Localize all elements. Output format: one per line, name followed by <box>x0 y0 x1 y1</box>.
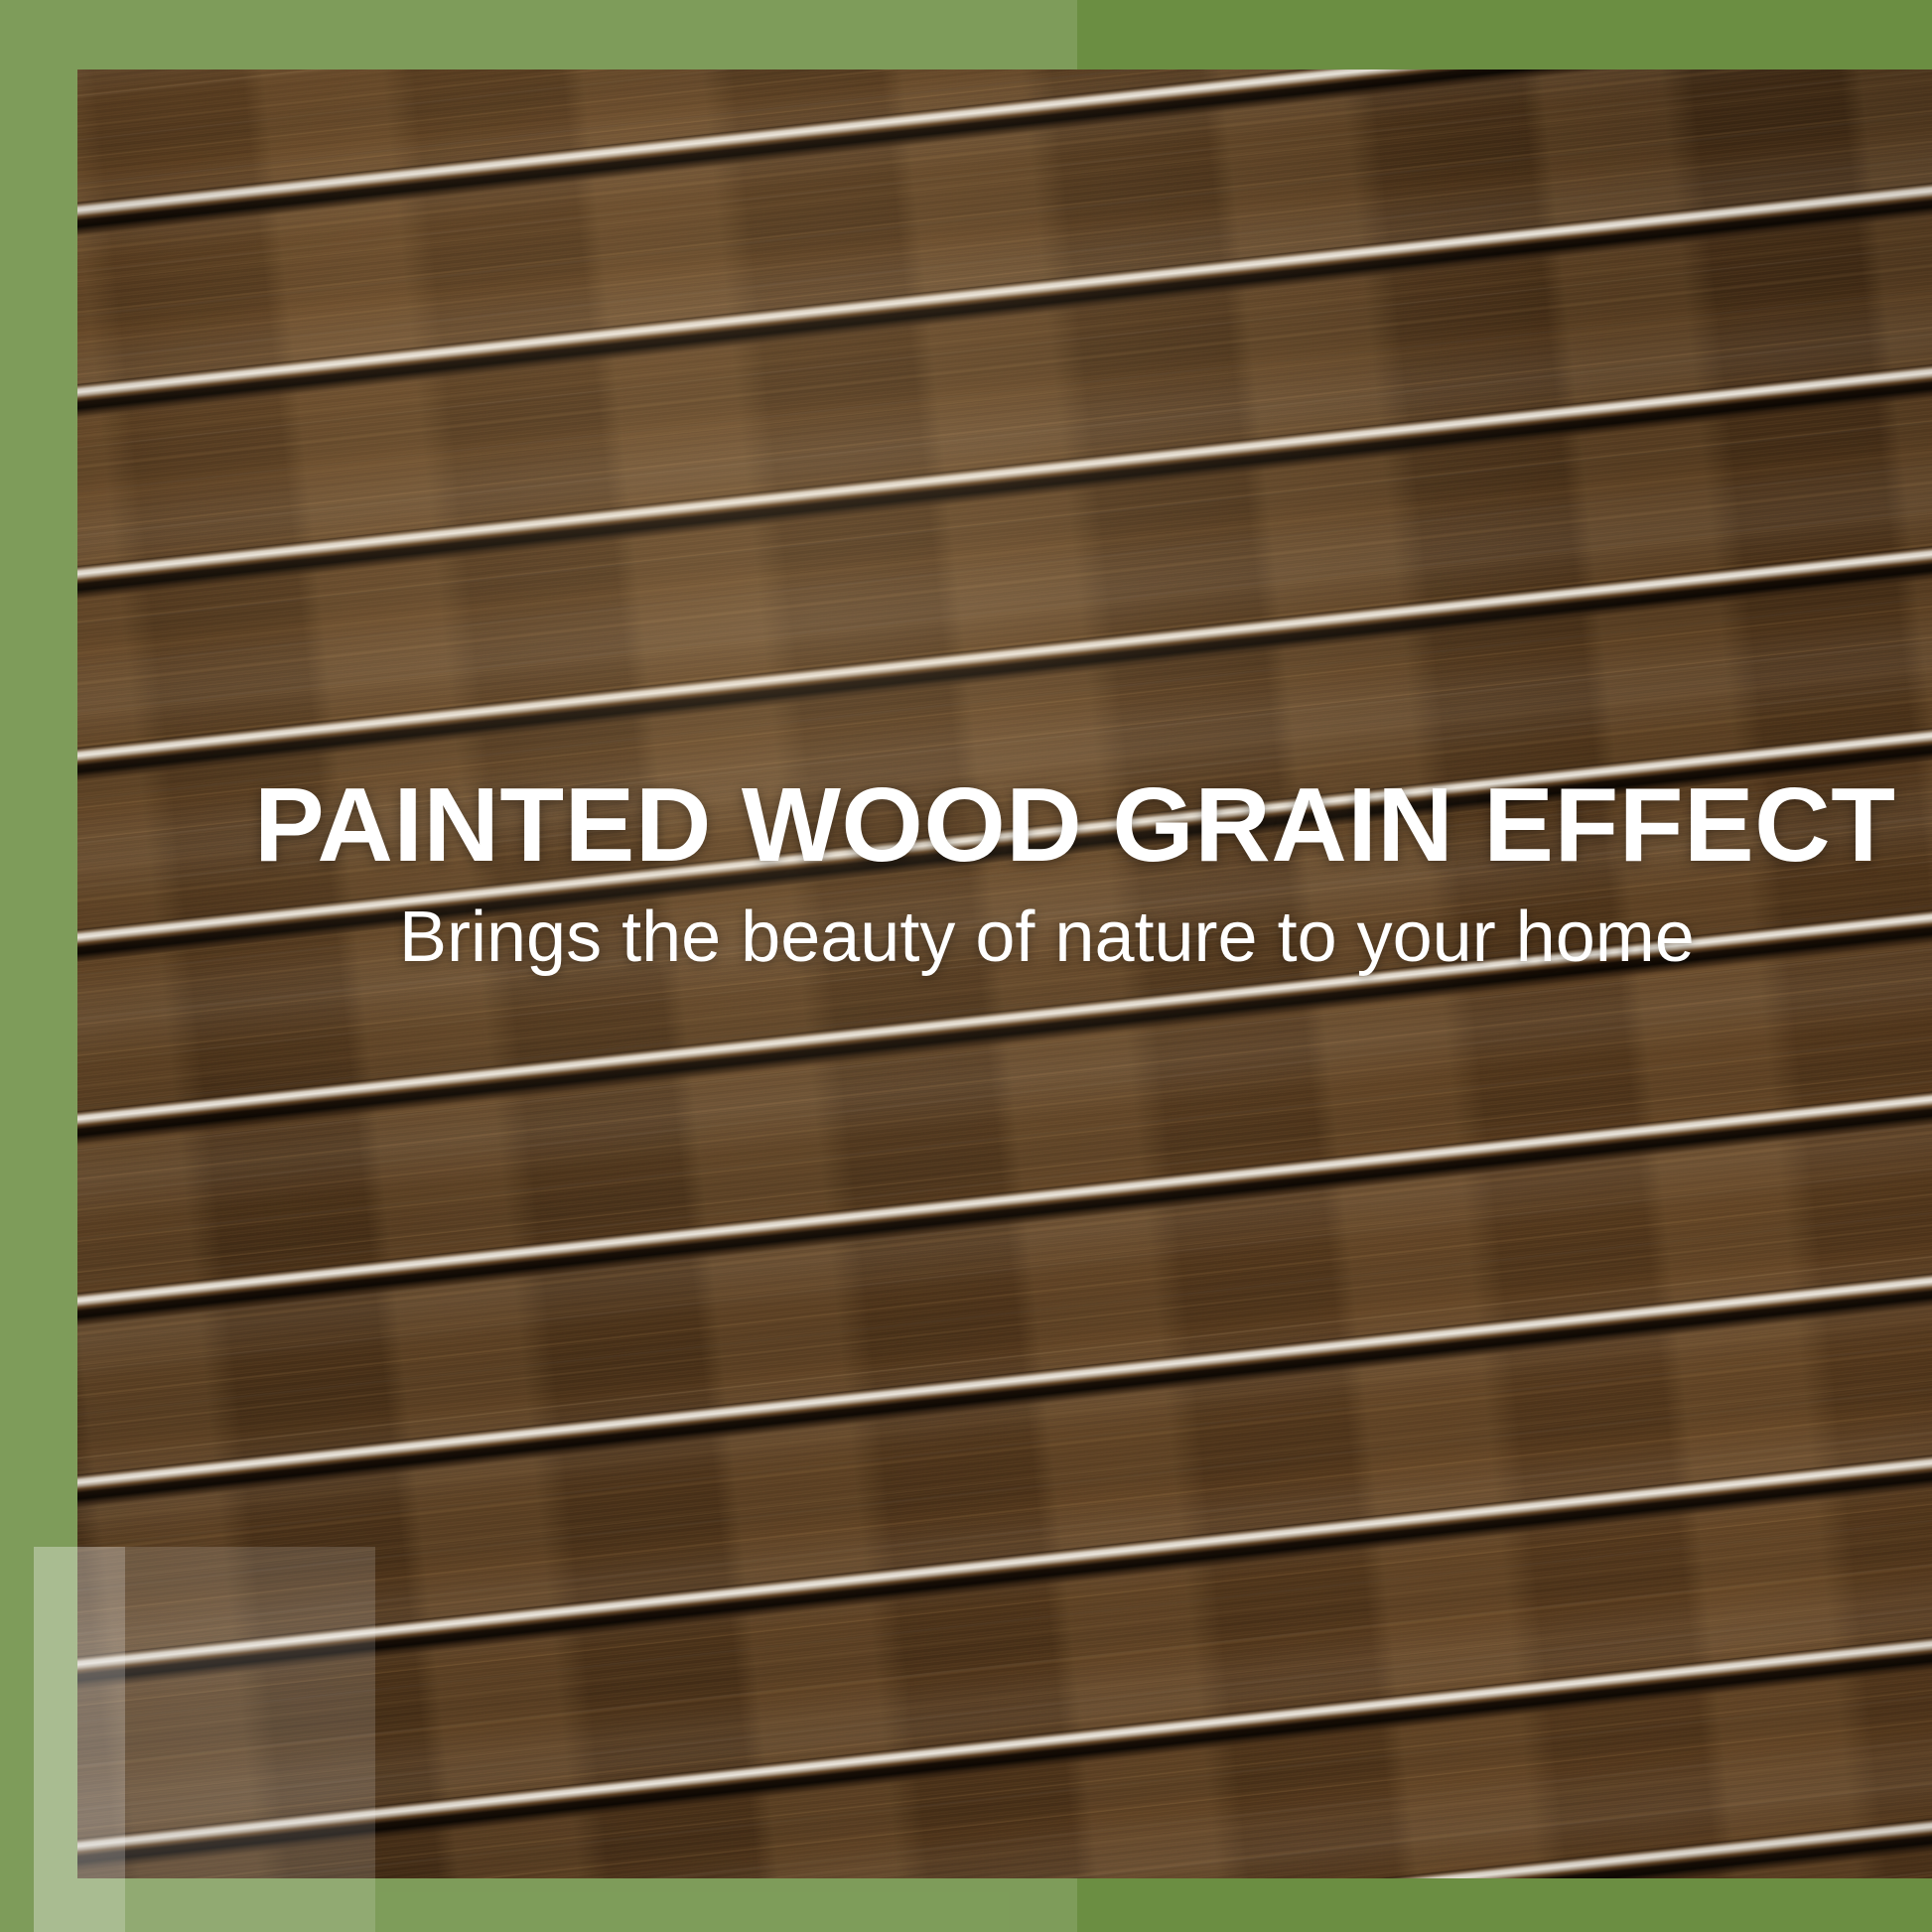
page-subtitle: Brings the beauty of nature to your home <box>399 901 1789 973</box>
page-title: PAINTED WOOD GRAIN EFFECT <box>254 772 1803 878</box>
poster-canvas: PAINTED WOOD GRAIN EFFECT Brings the bea… <box>0 0 1932 1932</box>
